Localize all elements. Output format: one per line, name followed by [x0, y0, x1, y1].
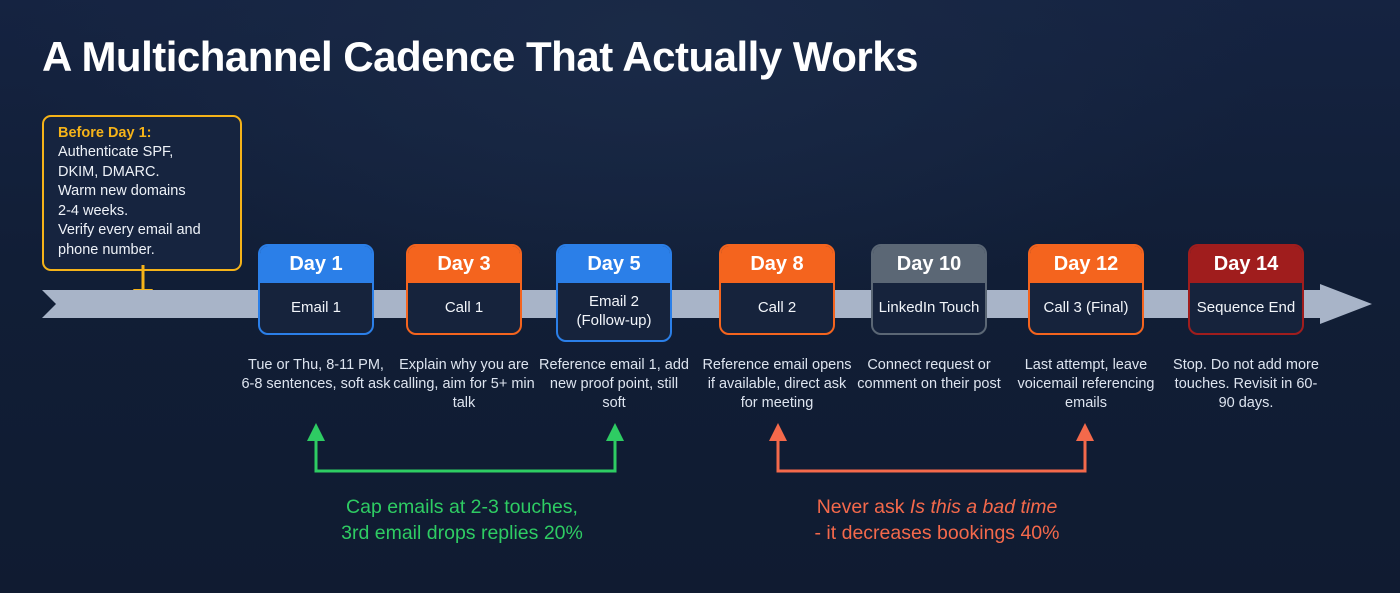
callout-line-2: DKIM, DMARC.: [58, 163, 230, 183]
callout-heading: Before Day 1:: [58, 124, 230, 143]
timeline-card-day-5[interactable]: Day 5 Email 2 (Follow-up): [556, 244, 672, 342]
card-day-label: Day 12: [1030, 246, 1142, 283]
card-caption-day-1: Tue or Thu, 8-11 PM, 6-8 sentences, soft…: [241, 356, 391, 394]
infographic-canvas: A Multichannel Cadence That Actually Wor…: [0, 0, 1400, 593]
card-action-label: Email 2 (Follow-up): [558, 283, 670, 340]
card-action-label: Call 1: [408, 283, 520, 333]
card-caption-day-5: Reference email 1, add new proof point, …: [539, 356, 689, 413]
card-caption-day-10: Connect request or comment on their post: [854, 356, 1004, 394]
timeline-card-day-1[interactable]: Day 1 Email 1: [258, 244, 374, 335]
bad-time-line-1: Never ask Is this a bad time: [782, 494, 1092, 520]
callout-line-6: phone number.: [58, 241, 230, 261]
card-caption-day-3: Explain why you are calling, aim for 5+ …: [389, 356, 539, 413]
timeline-rail: [42, 284, 1372, 324]
timeline-card-day-8[interactable]: Day 8 Call 2: [719, 244, 835, 335]
timeline-card-day-3[interactable]: Day 3 Call 1: [406, 244, 522, 335]
bad-time-line-1-prefix: Never ask: [817, 496, 910, 518]
before-day-1-callout: Before Day 1: Authenticate SPF, DKIM, DM…: [42, 115, 242, 271]
card-day-label: Day 10: [873, 246, 985, 283]
bad-time-bracket: [765, 421, 1098, 477]
card-day-label: Day 3: [408, 246, 520, 283]
card-day-label: Day 5: [558, 246, 670, 283]
bad-time-line-1-emphasis: Is this a bad time: [910, 496, 1057, 518]
card-action-label: LinkedIn Touch: [873, 283, 985, 333]
timeline-card-day-12[interactable]: Day 12 Call 3 (Final): [1028, 244, 1144, 335]
email-cap-bracket: [303, 421, 628, 477]
card-day-label: Day 8: [721, 246, 833, 283]
email-cap-line-2: 3rd email drops replies 20%: [312, 520, 612, 546]
callout-line-4: 2-4 weeks.: [58, 202, 230, 222]
email-cap-annotation: Cap emails at 2-3 touches, 3rd email dro…: [312, 494, 612, 546]
page-title: A Multichannel Cadence That Actually Wor…: [42, 33, 918, 81]
card-caption-day-12: Last attempt, leave voicemail referencin…: [1011, 356, 1161, 413]
bad-time-line-2: - it decreases bookings 40%: [782, 520, 1092, 546]
card-action-label: Call 3 (Final): [1030, 283, 1142, 333]
callout-line-5: Verify every email and: [58, 221, 230, 241]
card-caption-day-8: Reference email opens if available, dire…: [702, 356, 852, 413]
card-action-label: Call 2: [721, 283, 833, 333]
card-day-label: Day 1: [260, 246, 372, 283]
card-caption-day-14: Stop. Do not add more touches. Revisit i…: [1171, 356, 1321, 413]
callout-line-1: Authenticate SPF,: [58, 143, 230, 163]
callout-line-3: Warm new domains: [58, 182, 230, 202]
email-cap-line-1: Cap emails at 2-3 touches,: [312, 494, 612, 520]
timeline-card-day-14[interactable]: Day 14 Sequence End: [1188, 244, 1304, 335]
card-action-label: Email 1: [260, 283, 372, 333]
timeline-card-day-10[interactable]: Day 10 LinkedIn Touch: [871, 244, 987, 335]
card-action-label: Sequence End: [1190, 283, 1302, 333]
bad-time-annotation: Never ask Is this a bad time - it decrea…: [782, 494, 1092, 546]
card-day-label: Day 14: [1190, 246, 1302, 283]
